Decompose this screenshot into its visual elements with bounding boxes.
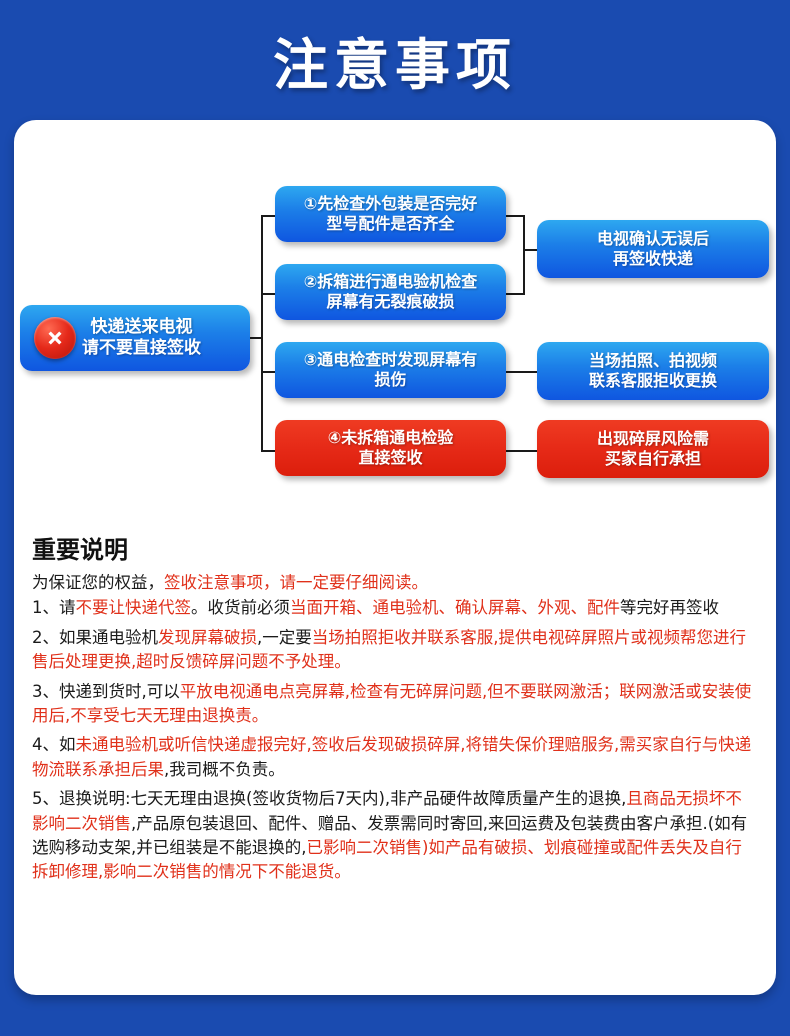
connector-node1-out — [506, 215, 524, 217]
content-card: 快递送来电视 请不要直接签收 ①先检查外包装是否完好 型号配件是否齐全 ②拆箱进… — [14, 120, 776, 995]
flow-node-step-2[interactable]: ②拆箱进行通电验机检查 屏幕有无裂痕破损 — [275, 264, 506, 320]
flow-node-step-3[interactable]: ③通电检查时发现屏幕有 损伤 — [275, 342, 506, 398]
flow-node-root[interactable]: 快递送来电视 请不要直接签收 — [20, 305, 250, 371]
flow-node-step-4[interactable]: ④未拆箱通电检验 直接签收 — [275, 420, 506, 476]
flow-node-outcome-3[interactable]: 出现碎屏风险需 买家自行承担 — [537, 420, 769, 478]
flow-node-step-3-text: ③通电检查时发现屏幕有 损伤 — [304, 350, 478, 389]
flow-node-outcome-2-line1: 当场拍照、拍视频 — [589, 351, 717, 370]
notes-item-segment: 请 — [59, 598, 76, 617]
flow-node-outcome-1-line2: 再签收快递 — [613, 249, 693, 268]
flow-node-root-line2: 请不要直接签收 — [82, 338, 201, 358]
flow-node-step-4-line1: ④未拆箱通电检验 — [328, 428, 454, 447]
notes-item-number: 2、 — [32, 628, 59, 647]
notes-item-segment: 发现屏幕破损 — [158, 628, 257, 647]
notes-item-segment: ,我司概不负责。 — [164, 760, 285, 779]
connector-root-stub — [250, 337, 262, 339]
notes-item-segment: 退换说明:七天无理由退换(签收货物后7天内),非产品硬件故障质量产生的退换, — [59, 789, 626, 808]
connector-to-node-2 — [261, 293, 276, 295]
page-header: 注意事项 — [0, 0, 790, 120]
notes-item: 5、退换说明:七天无理由退换(签收货物后7天内),非产品硬件故障质量产生的退换,… — [32, 787, 758, 885]
flow-node-outcome-3-line1: 出现碎屏风险需 — [597, 429, 709, 448]
notice-page: 注意事项 — [0, 0, 790, 1036]
notes-intro: 为保证您的权益，签收注意事项，请一定要仔细阅读。 — [32, 571, 758, 595]
flow-node-step-2-text: ②拆箱进行通电验机检查 屏幕有无裂痕破损 — [304, 272, 478, 311]
connector-merge-bus — [523, 215, 525, 295]
flow-node-step-2-line1: ②拆箱进行通电验机检查 — [304, 272, 478, 291]
notes-item-number: 5、 — [32, 789, 59, 808]
notes-item-segment: 快递到货时,可以 — [59, 682, 180, 701]
connector-to-node-4 — [261, 450, 276, 452]
notes-item-segment: ,一定要 — [257, 628, 312, 647]
notes-item-number: 4、 — [32, 735, 59, 754]
connector-node4-to-right3 — [506, 450, 538, 452]
flow-node-outcome-2-text: 当场拍照、拍视频 联系客服拒收更换 — [589, 351, 717, 390]
flow-node-step-1[interactable]: ①先检查外包装是否完好 型号配件是否齐全 — [275, 186, 506, 242]
notes-item-segment: 未通电验机或听信快递虚报完好,签收后发现破损碎屏,将错失保价理赔服务,需买家自行… — [32, 735, 751, 778]
notes-intro-part2: 签收注意事项，请一定要仔细阅读。 — [164, 573, 428, 592]
page-title: 注意事项 — [273, 20, 517, 100]
flow-node-root-text: 快递送来电视 请不要直接签收 — [82, 317, 201, 358]
connector-node3-to-right2 — [506, 371, 538, 373]
flow-node-step-1-line2: 型号配件是否齐全 — [326, 214, 454, 233]
flow-node-step-4-text: ④未拆箱通电检验 直接签收 — [328, 428, 454, 467]
flow-node-step-1-text: ①先检查外包装是否完好 型号配件是否齐全 — [304, 194, 478, 233]
flow-node-step-2-line2: 屏幕有无裂痕破损 — [326, 292, 454, 311]
notes-item-segment: 如果通电验机 — [59, 628, 158, 647]
red-circle-x-icon — [34, 317, 76, 359]
notes-item: 4、如未通电验机或听信快递虚报完好,签收后发现破损碎屏,将错失保价理赔服务,需买… — [32, 733, 758, 782]
flow-node-step-1-line1: ①先检查外包装是否完好 — [304, 194, 478, 213]
flow-node-step-3-line2: 损伤 — [374, 370, 406, 389]
notes-item: 1、请不要让快递代签。收货前必须当面开箱、通电验机、确认屏幕、外观、配件等完好再… — [32, 596, 758, 620]
notes-item-number: 3、 — [32, 682, 59, 701]
connector-node2-out — [506, 293, 524, 295]
notes-item-segment: 如 — [59, 735, 76, 754]
notes-intro-part1: 为保证您的权益， — [32, 573, 164, 592]
flow-node-outcome-1-line1: 电视确认无误后 — [597, 229, 709, 248]
flow-node-outcome-2-line2: 联系客服拒收更换 — [589, 371, 717, 390]
notes-item-segment: 当面开箱、通电验机、确认屏幕、外观、配件 — [290, 598, 620, 617]
notes-item: 3、快递到货时,可以平放电视通电点亮屏幕,检查有无碎屏问题,但不要联网激活；联网… — [32, 680, 758, 729]
connector-to-node-3 — [261, 371, 276, 373]
important-notes-section: 重要说明 为保证您的权益，签收注意事项，请一定要仔细阅读。 1、请不要让快递代签… — [14, 530, 776, 900]
flow-node-outcome-3-text: 出现碎屏风险需 买家自行承担 — [597, 429, 709, 468]
connector-to-node-1 — [261, 215, 276, 217]
connector-root-bus — [261, 215, 263, 451]
notes-heading: 重要说明 — [32, 530, 758, 565]
notes-item-number: 1、 — [32, 598, 59, 617]
connector-merge-to-right1 — [523, 249, 538, 251]
flow-node-root-line1: 快递送来电视 — [91, 317, 193, 337]
flow-node-outcome-2[interactable]: 当场拍照、拍视频 联系客服拒收更换 — [537, 342, 769, 400]
flowchart: 快递送来电视 请不要直接签收 ①先检查外包装是否完好 型号配件是否齐全 ②拆箱进… — [14, 120, 776, 530]
flow-node-step-4-line2: 直接签收 — [358, 448, 422, 467]
notes-item-segment: 不要让快递代签 — [76, 598, 192, 617]
notes-item-segment: 。收货前必须 — [191, 598, 290, 617]
flow-node-outcome-1[interactable]: 电视确认无误后 再签收快递 — [537, 220, 769, 278]
flow-node-outcome-3-line2: 买家自行承担 — [605, 449, 701, 468]
flow-node-step-3-line1: ③通电检查时发现屏幕有 — [304, 350, 478, 369]
flow-node-outcome-1-text: 电视确认无误后 再签收快递 — [597, 229, 709, 268]
notes-item: 2、如果通电验机发现屏幕破损,一定要当场拍照拒收并联系客服,提供电视碎屏照片或视… — [32, 626, 758, 675]
notes-item-segment: 等完好再签收 — [620, 598, 719, 617]
